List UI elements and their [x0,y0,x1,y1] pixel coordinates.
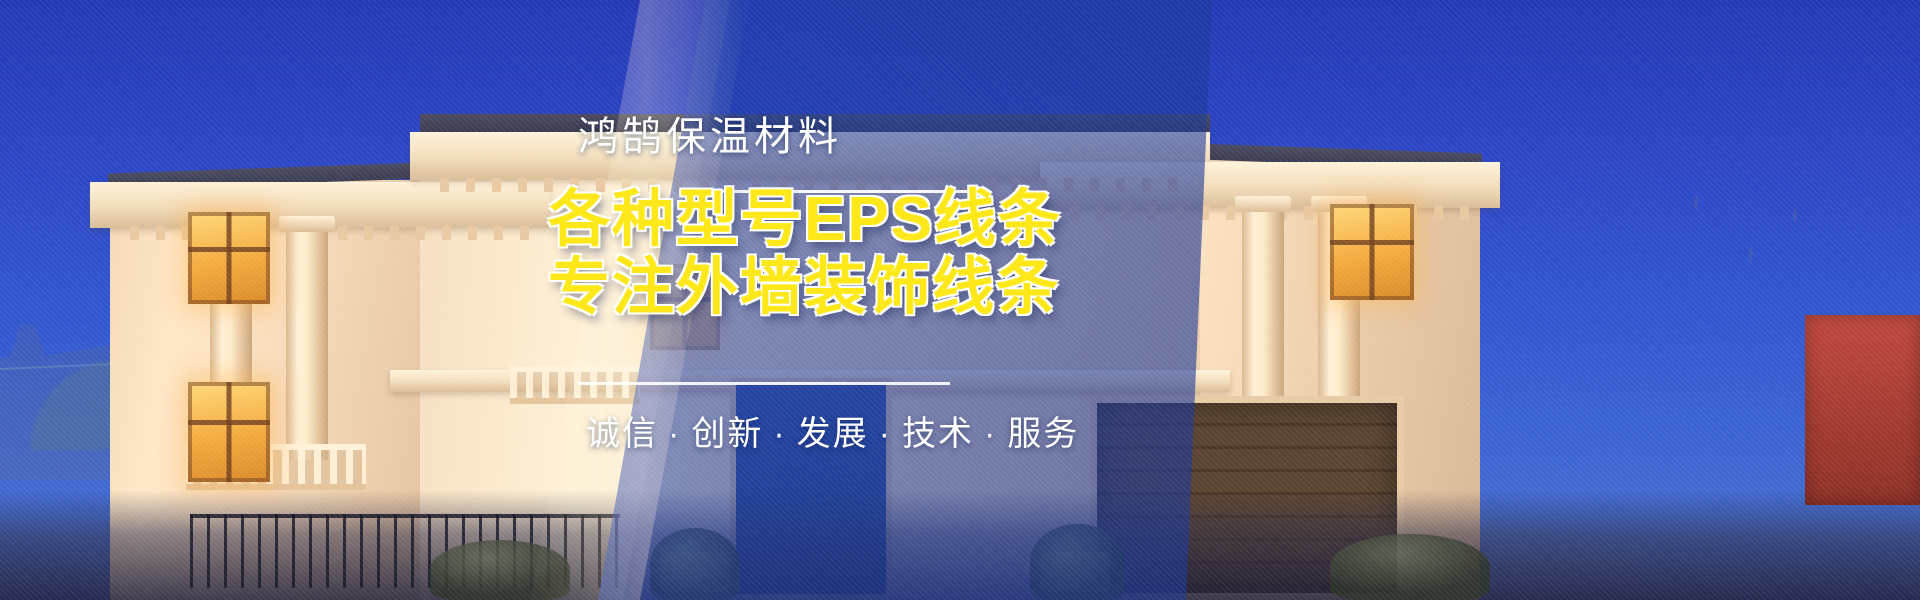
dentil-row-center [440,178,1180,192]
shrub-right [1030,524,1125,600]
bare-tree [1630,150,1850,410]
window-lower-left [188,382,270,482]
shrub-left [650,528,740,600]
balustrade-center [510,366,640,404]
shrub-front-right [1330,534,1490,600]
roof-center [420,114,1210,132]
background-photo [0,0,1920,600]
shrub-front-left [430,540,570,600]
window-upper-right [1330,204,1414,300]
window-upper-left [188,212,270,304]
window-center-upper [650,264,720,350]
hero-banner: 鸿鹄保温材料 各种型号EPS线条 专注外墙装饰线条 诚信·创新·发展·技术·服务 [0,0,1920,600]
column-left-2 [286,230,328,460]
